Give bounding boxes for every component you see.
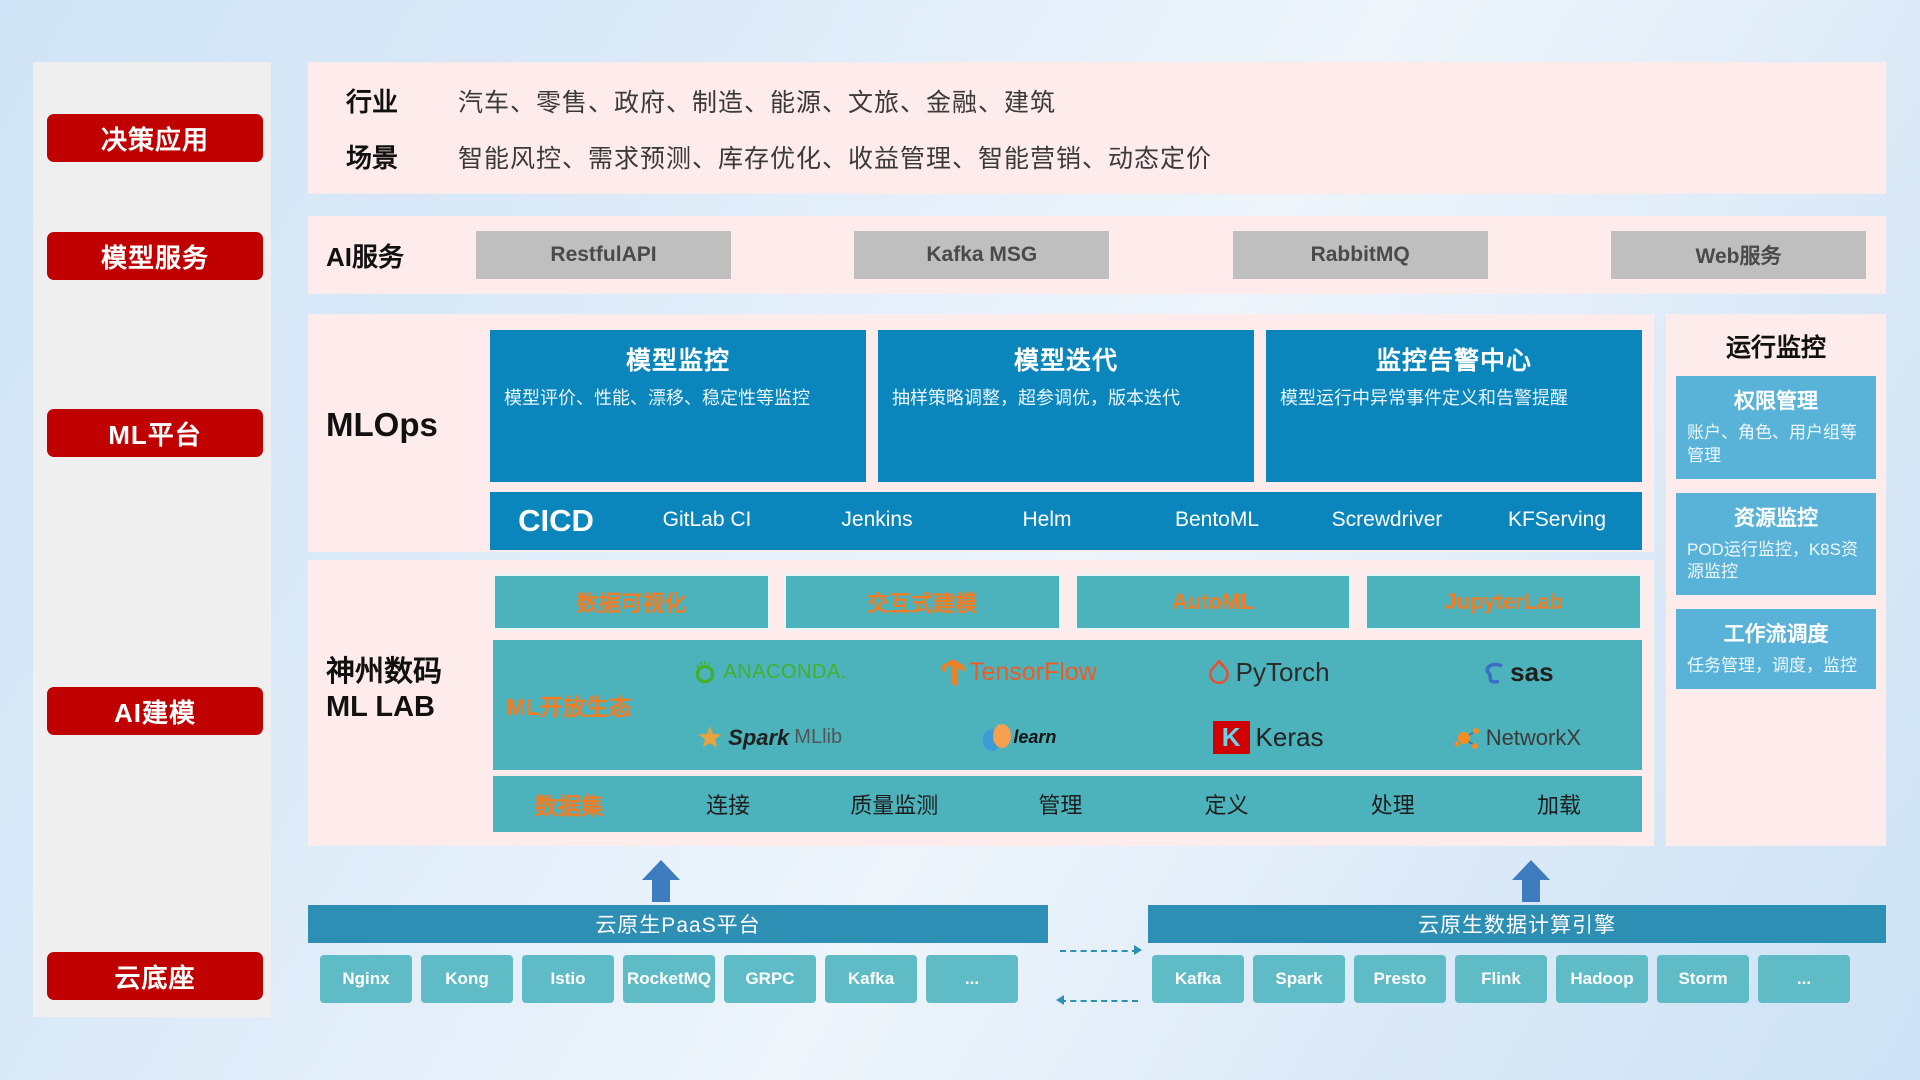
keras-logo: K Keras <box>1213 721 1324 754</box>
scenario-label: 场景 <box>346 138 458 175</box>
up-arrow-icon-paas <box>640 860 682 902</box>
networkx-logo: NetworkX <box>1454 724 1581 752</box>
cicd-item-gitlab-ci[interactable]: GitLab CI <box>622 492 792 530</box>
anaconda-logo: ANACONDA. <box>692 660 846 686</box>
mlops-card-alert-center[interactable]: 监控告警中心 模型运行中异常事件定义和告警提醒 <box>1266 330 1642 482</box>
cloud-paas-bar[interactable]: 云原生PaaS平台 <box>308 905 1048 943</box>
anaconda-wordmark: ANACONDA. <box>723 661 846 684</box>
tool-automl[interactable]: AutoML <box>1075 574 1352 630</box>
cicd-item-helm[interactable]: Helm <box>962 492 1132 530</box>
tool-jupyterlab[interactable]: JupyterLab <box>1365 574 1642 630</box>
ml-lab-panel: 神州数码 ML LAB 数据可视化 交互式建模 AutoML JupyterLa… <box>308 560 1654 846</box>
service-box-web[interactable]: Web服务 <box>1611 231 1866 279</box>
mlops-card-desc: 模型运行中异常事件定义和告警提醒 <box>1280 386 1628 411</box>
runtime-monitor-panel: 运行监控 权限管理 账户、角色、用户组等管理 资源监控 POD运行监控，K8S资… <box>1666 314 1886 846</box>
service-box-restfulapi[interactable]: RestfulAPI <box>476 231 731 279</box>
keras-mark-icon: K <box>1213 721 1250 754</box>
chip-kafka[interactable]: Kafka <box>825 955 917 1003</box>
cicd-row: CICD GitLab CI Jenkins Helm BentoML Scre… <box>490 492 1642 550</box>
mlops-label: MLOps <box>326 406 486 444</box>
ml-ecosystem-row: ML开放生态 ANACONDA. TensorFlow <box>493 640 1642 770</box>
dashed-connector-right <box>1060 950 1138 952</box>
dashed-arrow-head-right <box>1134 945 1142 955</box>
tier-label-decision-app: 决策应用 <box>47 114 263 162</box>
sas-mark-icon <box>1481 660 1507 686</box>
cicd-label: CICD <box>490 503 622 539</box>
service-box-rabbitmq[interactable]: RabbitMQ <box>1233 231 1488 279</box>
sas-wordmark: sas <box>1510 657 1553 688</box>
networkx-wordmark: NetworkX <box>1486 725 1581 751</box>
paas-chip-row: Nginx Kong Istio RocketMQ GRPC Kafka ... <box>320 955 1018 1003</box>
ml-lab-label: 神州数码 ML LAB <box>326 655 496 726</box>
ml-lab-label-line2: ML LAB <box>326 690 496 725</box>
chip-grpc[interactable]: GRPC <box>724 955 816 1003</box>
dashed-connector-left <box>1060 1000 1138 1002</box>
chip-spark[interactable]: Spark <box>1253 955 1345 1003</box>
ml-lab-tools: 数据可视化 交互式建模 AutoML JupyterLab <box>493 574 1642 630</box>
mlops-card-title: 监控告警中心 <box>1280 341 1628 377</box>
chip-storm[interactable]: Storm <box>1657 955 1749 1003</box>
monitor-card-resource[interactable]: 资源监控 POD运行监控，K8S资源监控 <box>1676 493 1876 596</box>
compute-chip-row: Kafka Spark Presto Flink Hadoop Storm ..… <box>1152 955 1850 1003</box>
dashed-arrow-head-left <box>1056 995 1064 1005</box>
monitor-card-title: 权限管理 <box>1687 385 1865 415</box>
dataset-item-process[interactable]: 处理 <box>1310 788 1476 820</box>
ml-lab-label-line1: 神州数码 <box>326 655 496 690</box>
dataset-item-connect[interactable]: 连接 <box>645 788 811 820</box>
dataset-row: 数据集 连接 质量监测 管理 定义 处理 加载 <box>493 776 1642 832</box>
mlops-card-model-monitoring[interactable]: 模型监控 模型评价、性能、漂移、稳定性等监控 <box>490 330 866 482</box>
chip-hadoop[interactable]: Hadoop <box>1556 955 1648 1003</box>
pytorch-logo: PyTorch <box>1207 657 1330 688</box>
monitor-card-title: 资源监控 <box>1687 502 1865 532</box>
ml-ecosystem-label: ML开放生态 <box>493 688 645 722</box>
monitor-card-desc: POD运行监控，K8S资源监控 <box>1687 539 1865 585</box>
scikit-learn-logo: learn <box>981 723 1056 753</box>
monitor-card-desc: 任务管理，调度，监控 <box>1687 655 1865 678</box>
mlops-panel: MLOps 模型监控 模型评价、性能、漂移、稳定性等监控 模型迭代 抽样策略调整… <box>308 314 1654 552</box>
chip-istio[interactable]: Istio <box>522 955 614 1003</box>
pytorch-wordmark: PyTorch <box>1236 657 1330 688</box>
dataset-item-manage[interactable]: 管理 <box>977 788 1143 820</box>
networkx-graph-icon <box>1454 724 1482 752</box>
ai-service-items: RestfulAPI Kafka MSG RabbitMQ Web服务 <box>476 231 1886 279</box>
chip-kafka-right[interactable]: Kafka <box>1152 955 1244 1003</box>
monitor-card-workflow[interactable]: 工作流调度 任务管理，调度，监控 <box>1676 609 1876 689</box>
tier-label-model-service: 模型服务 <box>47 232 263 280</box>
tensorflow-wordmark: TensorFlow <box>969 658 1097 687</box>
architecture-diagram: 决策应用 模型服务 ML平台 AI建模 云底座 行业 汽车、零售、政府、制造、能… <box>0 0 1920 1080</box>
monitor-card-desc: 账户、角色、用户组等管理 <box>1687 422 1865 468</box>
tool-data-visualization[interactable]: 数据可视化 <box>493 574 770 630</box>
chip-flink[interactable]: Flink <box>1455 955 1547 1003</box>
dataset-item-define[interactable]: 定义 <box>1144 788 1310 820</box>
mlops-card-desc: 抽样策略调整，超参调优，版本迭代 <box>892 386 1240 411</box>
ai-service-panel: AI服务 RestfulAPI Kafka MSG RabbitMQ Web服务 <box>308 216 1886 294</box>
mlops-card-title: 模型迭代 <box>892 341 1240 377</box>
spark-wordmark: Spark <box>728 725 789 751</box>
mlops-card-title: 模型监控 <box>504 341 852 377</box>
mllib-wordmark: MLlib <box>794 726 842 749</box>
cicd-item-bentoml[interactable]: BentoML <box>1132 492 1302 530</box>
industry-scenario-panel: 行业 汽车、零售、政府、制造、能源、文旅、金融、建筑 场景 智能风控、需求预测、… <box>308 62 1886 194</box>
mlops-card-model-iteration[interactable]: 模型迭代 抽样策略调整，超参调优，版本迭代 <box>878 330 1254 482</box>
tensorflow-mark-icon <box>941 659 965 687</box>
chip-presto[interactable]: Presto <box>1354 955 1446 1003</box>
ai-service-label: AI服务 <box>326 237 476 274</box>
monitor-card-title: 工作流调度 <box>1687 618 1865 648</box>
spark-mllib-logo: Spark MLlib <box>697 725 842 751</box>
industry-label: 行业 <box>346 82 458 119</box>
cicd-item-screwdriver[interactable]: Screwdriver <box>1302 492 1472 530</box>
tier-label-cloud-base: 云底座 <box>47 952 263 1000</box>
cicd-item-jenkins[interactable]: Jenkins <box>792 492 962 530</box>
dataset-label: 数据集 <box>493 787 645 821</box>
dataset-item-quality-monitoring[interactable]: 质量监测 <box>811 788 977 820</box>
chip-more-left[interactable]: ... <box>926 955 1018 1003</box>
scikit-learn-wordmark: learn <box>1013 727 1056 748</box>
mlops-cards: 模型监控 模型评价、性能、漂移、稳定性等监控 模型迭代 抽样策略调整，超参调优，… <box>490 330 1642 482</box>
tier-label-ml-platform: ML平台 <box>47 409 263 457</box>
ecosystem-logo-grid: ANACONDA. TensorFlow PyTorch <box>645 640 1642 770</box>
tier-rail <box>33 62 271 1017</box>
scenario-value: 智能风控、需求预测、库存优化、收益管理、智能营销、动态定价 <box>458 139 1212 175</box>
keras-wordmark: Keras <box>1256 722 1324 753</box>
tier-label-ai-modeling: AI建模 <box>47 687 263 735</box>
industry-value: 汽车、零售、政府、制造、能源、文旅、金融、建筑 <box>458 83 1056 119</box>
service-box-kafka-msg[interactable]: Kafka MSG <box>854 231 1109 279</box>
runtime-monitor-title: 运行监控 <box>1666 314 1886 376</box>
chip-rocketmq[interactable]: RocketMQ <box>623 955 715 1003</box>
tensorflow-logo: TensorFlow <box>941 658 1097 687</box>
chip-more-right[interactable]: ... <box>1758 955 1850 1003</box>
cicd-item-kfserving[interactable]: KFServing <box>1472 492 1642 530</box>
mlops-card-desc: 模型评价、性能、漂移、稳定性等监控 <box>504 386 852 411</box>
spark-star-icon <box>697 725 723 751</box>
monitor-card-permission[interactable]: 权限管理 账户、角色、用户组等管理 <box>1676 376 1876 479</box>
cloud-compute-bar[interactable]: 云原生数据计算引擎 <box>1148 905 1886 943</box>
up-arrow-icon-compute <box>1510 860 1552 902</box>
tool-interactive-modeling[interactable]: 交互式建模 <box>784 574 1061 630</box>
sas-logo: sas <box>1481 657 1553 688</box>
anaconda-mark-icon <box>692 660 718 686</box>
chip-nginx[interactable]: Nginx <box>320 955 412 1003</box>
scikit-blob-icon <box>981 723 1011 753</box>
dataset-item-load[interactable]: 加载 <box>1476 788 1642 820</box>
chip-kong[interactable]: Kong <box>421 955 513 1003</box>
pytorch-flame-icon <box>1207 659 1231 686</box>
